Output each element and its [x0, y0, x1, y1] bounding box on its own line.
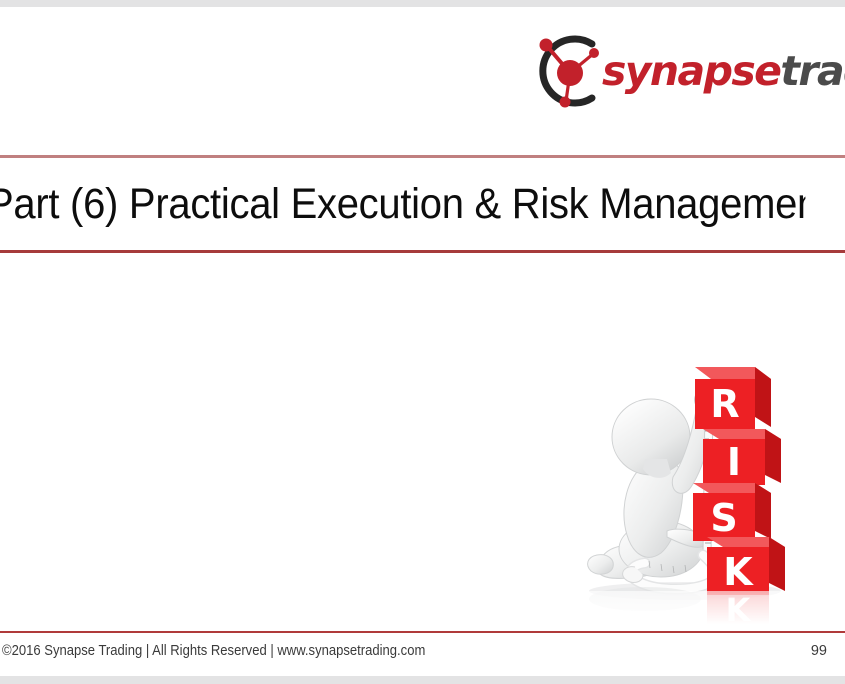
viewer-bottom-band — [0, 676, 845, 684]
slide-title: Part (6) Practical Execution & Risk Mana… — [0, 175, 805, 241]
brand-wordmark-secondary: trading — [780, 47, 845, 95]
brand-wordmark-primary: synapse — [602, 47, 780, 95]
brand-wordmark: synapsetrading — [602, 51, 845, 92]
svg-text:I: I — [727, 440, 741, 484]
slide-number: 99 — [811, 641, 827, 661]
title-rule-bottom — [0, 250, 845, 253]
slide-viewer: synapsetrading Part (6) Practical Execut… — [0, 0, 845, 684]
svg-text:R: R — [710, 382, 739, 426]
brand-logo: synapsetrading — [530, 31, 838, 111]
title-rule-top — [0, 155, 845, 158]
footer-rule — [0, 631, 845, 633]
synapse-network-mark-icon — [530, 31, 610, 111]
footer-copyright: ©2016 Synapse Trading | All Rights Reser… — [2, 641, 425, 661]
slide-canvas: synapsetrading Part (6) Practical Execut… — [0, 7, 845, 676]
viewer-top-band — [0, 0, 845, 7]
svg-text:K: K — [723, 550, 754, 594]
svg-text:S: S — [710, 496, 737, 540]
risk-blocks-illustration: R I S — [575, 359, 810, 624]
